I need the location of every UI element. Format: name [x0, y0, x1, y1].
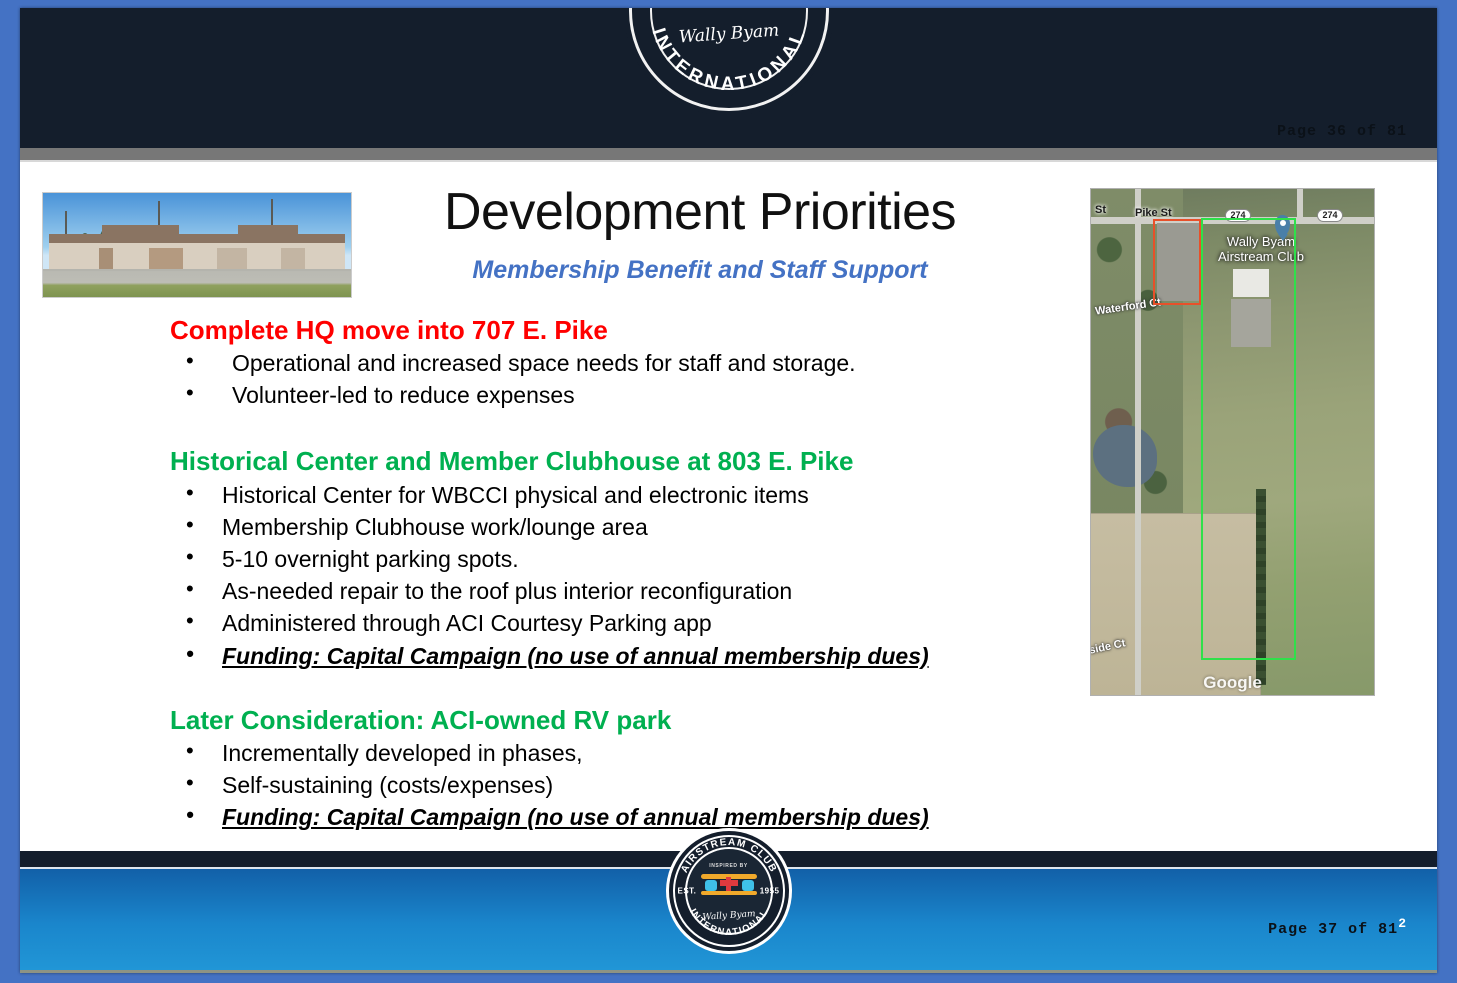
map-road-vertical	[1297, 189, 1303, 217]
list-item-funding: Funding: Capital Campaign (no use of ann…	[170, 801, 1000, 833]
map-label-pike-st: Pike St	[1135, 207, 1172, 219]
section-heading-historical-center: Historical Center and Member Clubhouse a…	[170, 447, 1000, 476]
section-heading-hq-move: Complete HQ move into 707 E. Pike	[170, 316, 1000, 345]
slide-page: Wally Byam INTERNATIONAL Page 36 of 81	[20, 8, 1437, 973]
page-indicator-top: Page 36 of 81	[1277, 123, 1407, 140]
slide-subtitle: Membership Benefit and Staff Support	[360, 256, 1040, 285]
list-item: 5-10 overnight parking spots.	[170, 543, 1000, 575]
list-item: As-needed repair to the roof plus interi…	[170, 575, 1000, 607]
map-label-st: St	[1095, 204, 1106, 216]
page-indicator-bottom: Page 37 of 812	[1268, 916, 1407, 938]
building-shape	[49, 234, 345, 272]
badge-inspired-by-label: INSPIRED BY	[709, 863, 748, 869]
map-highlight-707-parcel	[1153, 219, 1201, 305]
window-shape	[281, 248, 305, 270]
page-indicator-bottom-text: Page 37 of 81	[1268, 921, 1398, 938]
slide-header-band: Wally Byam INTERNATIONAL Page 36 of 81	[20, 8, 1437, 148]
slide-body-text: Complete HQ move into 707 E. Pike Operat…	[170, 316, 1000, 833]
map-route-shield-274: 274	[1317, 209, 1343, 222]
aci-monogram-icon	[698, 871, 760, 899]
list-item: Administered through ACI Courtesy Parkin…	[170, 607, 1000, 639]
slide-title: Development Priorities	[360, 182, 1040, 242]
page-indicator-overlay-number: 2	[1398, 916, 1407, 931]
list-item: Volunteer-led to reduce expenses	[170, 379, 1000, 411]
section-spacer	[170, 672, 1000, 706]
list-item-funding: Funding: Capital Campaign (no use of ann…	[170, 640, 1000, 672]
aci-monogram-icon	[677, 8, 781, 10]
header-divider	[20, 148, 1437, 162]
list-item: Historical Center for WBCCI physical and…	[170, 479, 1000, 511]
map-road-vertical	[1135, 189, 1141, 695]
document-viewer: Wally Byam INTERNATIONAL Page 36 of 81	[0, 0, 1457, 983]
bullet-list-hq-move: Operational and increased space needs fo…	[170, 347, 1000, 411]
map-attribution: Google	[1203, 673, 1262, 693]
satellite-map-image: St Pike St Waterford Ct side Ct 274 274 …	[1090, 188, 1375, 696]
map-pond	[1093, 425, 1157, 487]
section-heading-rv-park: Later Consideration: ACI-owned RV park	[170, 706, 1000, 735]
list-item: Membership Clubhouse work/lounge area	[170, 511, 1000, 543]
badge-est-label: EST.	[678, 887, 697, 896]
door-shape	[99, 248, 113, 270]
entry-shape	[149, 248, 183, 270]
bullet-list-historical-center: Historical Center for WBCCI physical and…	[170, 479, 1000, 672]
list-item: Self-sustaining (costs/expenses)	[170, 769, 1000, 801]
badge-year-label: 1955	[760, 887, 780, 896]
map-highlight-803-parcel	[1201, 218, 1296, 660]
window-shape	[217, 248, 247, 270]
hq-building-photo	[42, 192, 352, 298]
wbcci-top-logo-icon: Wally Byam INTERNATIONAL	[624, 8, 834, 116]
lawn-shape	[43, 271, 351, 297]
slide-content: Development Priorities Membership Benefi…	[20, 164, 1437, 851]
section-spacer	[170, 411, 1000, 447]
aci-bottom-logo-icon: AIRSTREAM CLUB INTERNATIONAL INSPIRED BY…	[669, 831, 789, 951]
bullet-list-rv-park: Incrementally developed in phases, Self-…	[170, 737, 1000, 834]
list-item: Operational and increased space needs fo…	[170, 347, 1000, 379]
list-item: Incrementally developed in phases,	[170, 737, 1000, 769]
